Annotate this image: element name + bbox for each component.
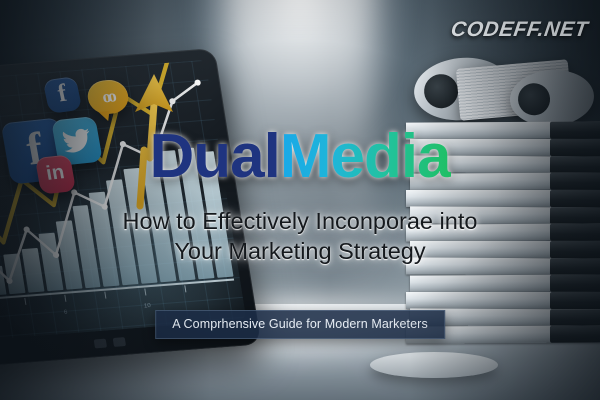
vignette-overlay: [0, 0, 600, 400]
promo-banner-image: 2 6 10 f f in oo: [0, 0, 600, 400]
